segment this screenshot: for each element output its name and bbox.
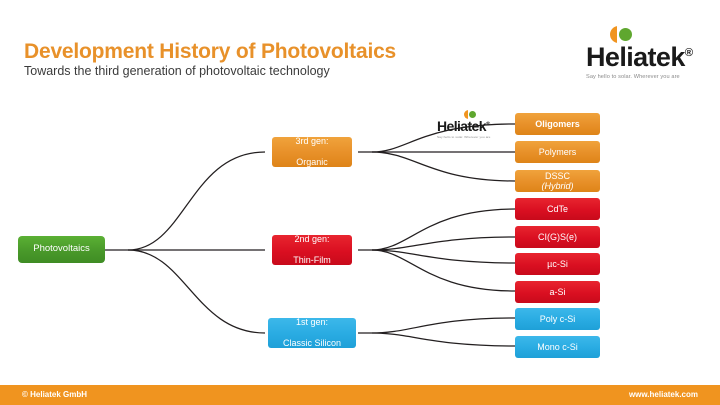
node-label-line1: 3rd gen: bbox=[295, 137, 328, 147]
node-label-line2: Classic Silicon bbox=[283, 338, 341, 348]
node-cigs[interactable]: CI(G)S(e) bbox=[515, 226, 600, 248]
node-oligomers[interactable]: Oligomers bbox=[515, 113, 600, 135]
registered-mark: ® bbox=[486, 121, 490, 127]
node-photovoltaics[interactable]: Photovoltaics bbox=[18, 236, 105, 263]
footer-website[interactable]: www.heliatek.com bbox=[629, 390, 698, 399]
connector-lines bbox=[0, 0, 720, 405]
node-label-italic: (Hybrid) bbox=[541, 181, 573, 191]
node-label: 3rd gen:Organic bbox=[295, 137, 328, 167]
node-label-line2: Thin-Film bbox=[293, 255, 331, 265]
node-label-line2: Organic bbox=[295, 157, 328, 167]
node-label: Mono c-Si bbox=[537, 342, 578, 352]
footer-copyright: © Heliatek GmbH bbox=[22, 390, 87, 399]
node-label: DSSC (Hybrid) bbox=[541, 171, 573, 192]
node-label: CI(G)S(e) bbox=[538, 232, 577, 242]
footer-bar: © Heliatek GmbH www.heliatek.com bbox=[0, 385, 720, 405]
node-cdte[interactable]: CdTe bbox=[515, 198, 600, 220]
node-label: 1st gen:Classic Silicon bbox=[283, 318, 341, 348]
node-label-line1: 2nd gen: bbox=[293, 235, 331, 245]
node-mono-c-si[interactable]: Mono c-Si bbox=[515, 336, 600, 358]
node-label: µc-Si bbox=[547, 259, 568, 269]
node-polymers[interactable]: Polymers bbox=[515, 141, 600, 163]
logo-tagline: Say hello to solar. Wherever you are bbox=[437, 135, 490, 139]
node-1st-gen-classic-silicon[interactable]: 1st gen:Classic Silicon bbox=[268, 318, 356, 348]
node-2nd-gen-thin-film[interactable]: 2nd gen:Thin-Film bbox=[272, 235, 352, 265]
node-label: a-Si bbox=[549, 287, 565, 297]
node-label: Poly c-Si bbox=[540, 314, 576, 324]
technology-tree-diagram: Photovoltaics 3rd gen:Organic 2nd gen:Th… bbox=[0, 0, 720, 405]
node-microcrystalline-si[interactable]: µc-Si bbox=[515, 253, 600, 275]
node-label: 2nd gen:Thin-Film bbox=[293, 235, 331, 265]
node-label: CdTe bbox=[547, 204, 568, 214]
node-label: Polymers bbox=[539, 147, 577, 157]
slide-canvas: Development History of Photovoltaics Tow… bbox=[0, 0, 720, 405]
node-label: Photovoltaics bbox=[33, 244, 90, 255]
node-label: Oligomers bbox=[535, 119, 580, 129]
node-label-text: DSSC bbox=[541, 171, 573, 181]
node-amorphous-si[interactable]: a-Si bbox=[515, 281, 600, 303]
node-dssc-hybrid[interactable]: DSSC (Hybrid) bbox=[515, 170, 600, 192]
logo-brand-name: Heliatek bbox=[437, 118, 486, 134]
node-3rd-gen-organic[interactable]: 3rd gen:Organic bbox=[272, 137, 352, 167]
node-poly-c-si[interactable]: Poly c-Si bbox=[515, 308, 600, 330]
heliatek-logo-inline: Heliatek® Say hello to solar. Wherever y… bbox=[437, 110, 490, 139]
circle-icon bbox=[469, 111, 476, 118]
node-label-line1: 1st gen: bbox=[283, 318, 341, 328]
logo-wordmark: Heliatek® bbox=[437, 119, 490, 133]
